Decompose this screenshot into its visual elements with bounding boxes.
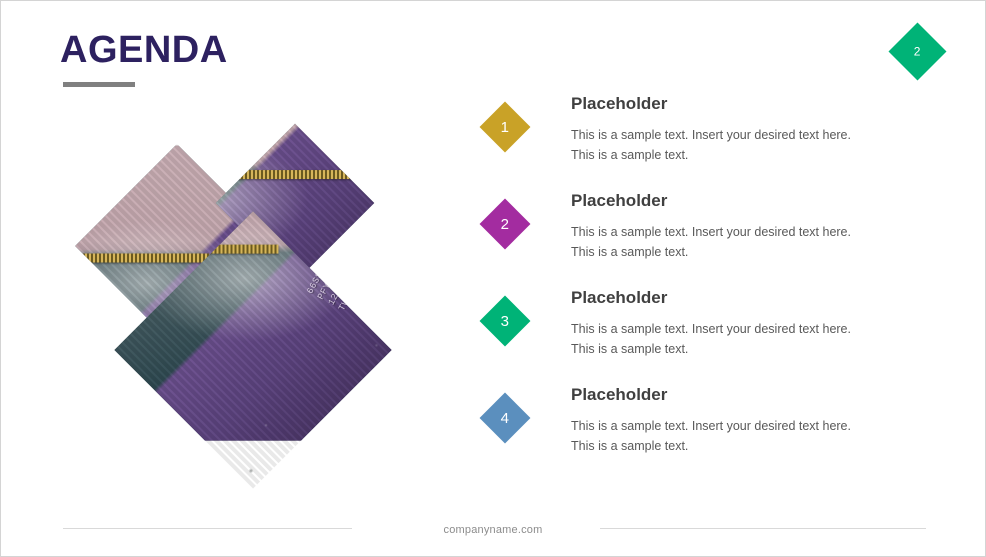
pcb-pin-row — [75, 253, 209, 262]
footer: companyname.com — [1, 520, 985, 540]
agenda-item-2-number: 2 — [501, 217, 509, 232]
image-collage: 66SS9174-BL02 PFY6590A.1 1203 B1P TW — [83, 134, 428, 459]
agenda-list: 1 Placeholder This is a sample text. Ins… — [487, 95, 887, 483]
agenda-item-1-diamond: 1 — [480, 102, 531, 153]
title-block: AGENDA — [60, 31, 228, 87]
agenda-item-2-heading: Placeholder — [571, 192, 871, 211]
agenda-item-3-diamond: 3 — [480, 296, 531, 347]
agenda-item-4-diamond: 4 — [480, 393, 531, 444]
agenda-item-1-text: This is a sample text. Insert your desir… — [571, 125, 871, 166]
footer-website: companyname.com — [1, 524, 985, 536]
agenda-item-1-number: 1 — [501, 120, 509, 135]
agenda-item-2-body: Placeholder This is a sample text. Inser… — [571, 192, 871, 263]
title-underline-rule — [63, 82, 135, 87]
pcb-pin-row — [216, 170, 374, 179]
agenda-item-4-text: This is a sample text. Insert your desir… — [571, 416, 871, 457]
agenda-item-4-body: Placeholder This is a sample text. Inser… — [571, 386, 871, 457]
agenda-item-1-body: Placeholder This is a sample text. Inser… — [571, 95, 871, 166]
agenda-item-3-body: Placeholder This is a sample text. Inser… — [571, 289, 871, 360]
agenda-item-2-diamond: 2 — [480, 199, 531, 250]
agenda-item-2[interactable]: 2 Placeholder This is a sample text. Ins… — [487, 192, 887, 289]
agenda-item-3-heading: Placeholder — [571, 289, 871, 308]
page-title: AGENDA — [60, 31, 228, 69]
footer-divider-right — [600, 528, 926, 529]
slide-number-value: 2 — [914, 46, 921, 58]
agenda-item-1[interactable]: 1 Placeholder This is a sample text. Ins… — [487, 95, 887, 192]
agenda-item-3-text: This is a sample text. Insert your desir… — [571, 319, 871, 360]
agenda-item-3[interactable]: 3 Placeholder This is a sample text. Ins… — [487, 289, 887, 386]
slide-canvas: AGENDA 2 66SS9174-BL02 — [0, 0, 986, 557]
agenda-item-4-heading: Placeholder — [571, 386, 871, 405]
agenda-item-1-heading: Placeholder — [571, 95, 871, 114]
agenda-item-4-number: 4 — [501, 411, 509, 426]
agenda-item-2-text: This is a sample text. Insert your desir… — [571, 222, 871, 263]
agenda-item-4[interactable]: 4 Placeholder This is a sample text. Ins… — [487, 386, 887, 483]
slide-number-badge: 2 — [889, 23, 947, 81]
agenda-item-3-number: 3 — [501, 314, 509, 329]
